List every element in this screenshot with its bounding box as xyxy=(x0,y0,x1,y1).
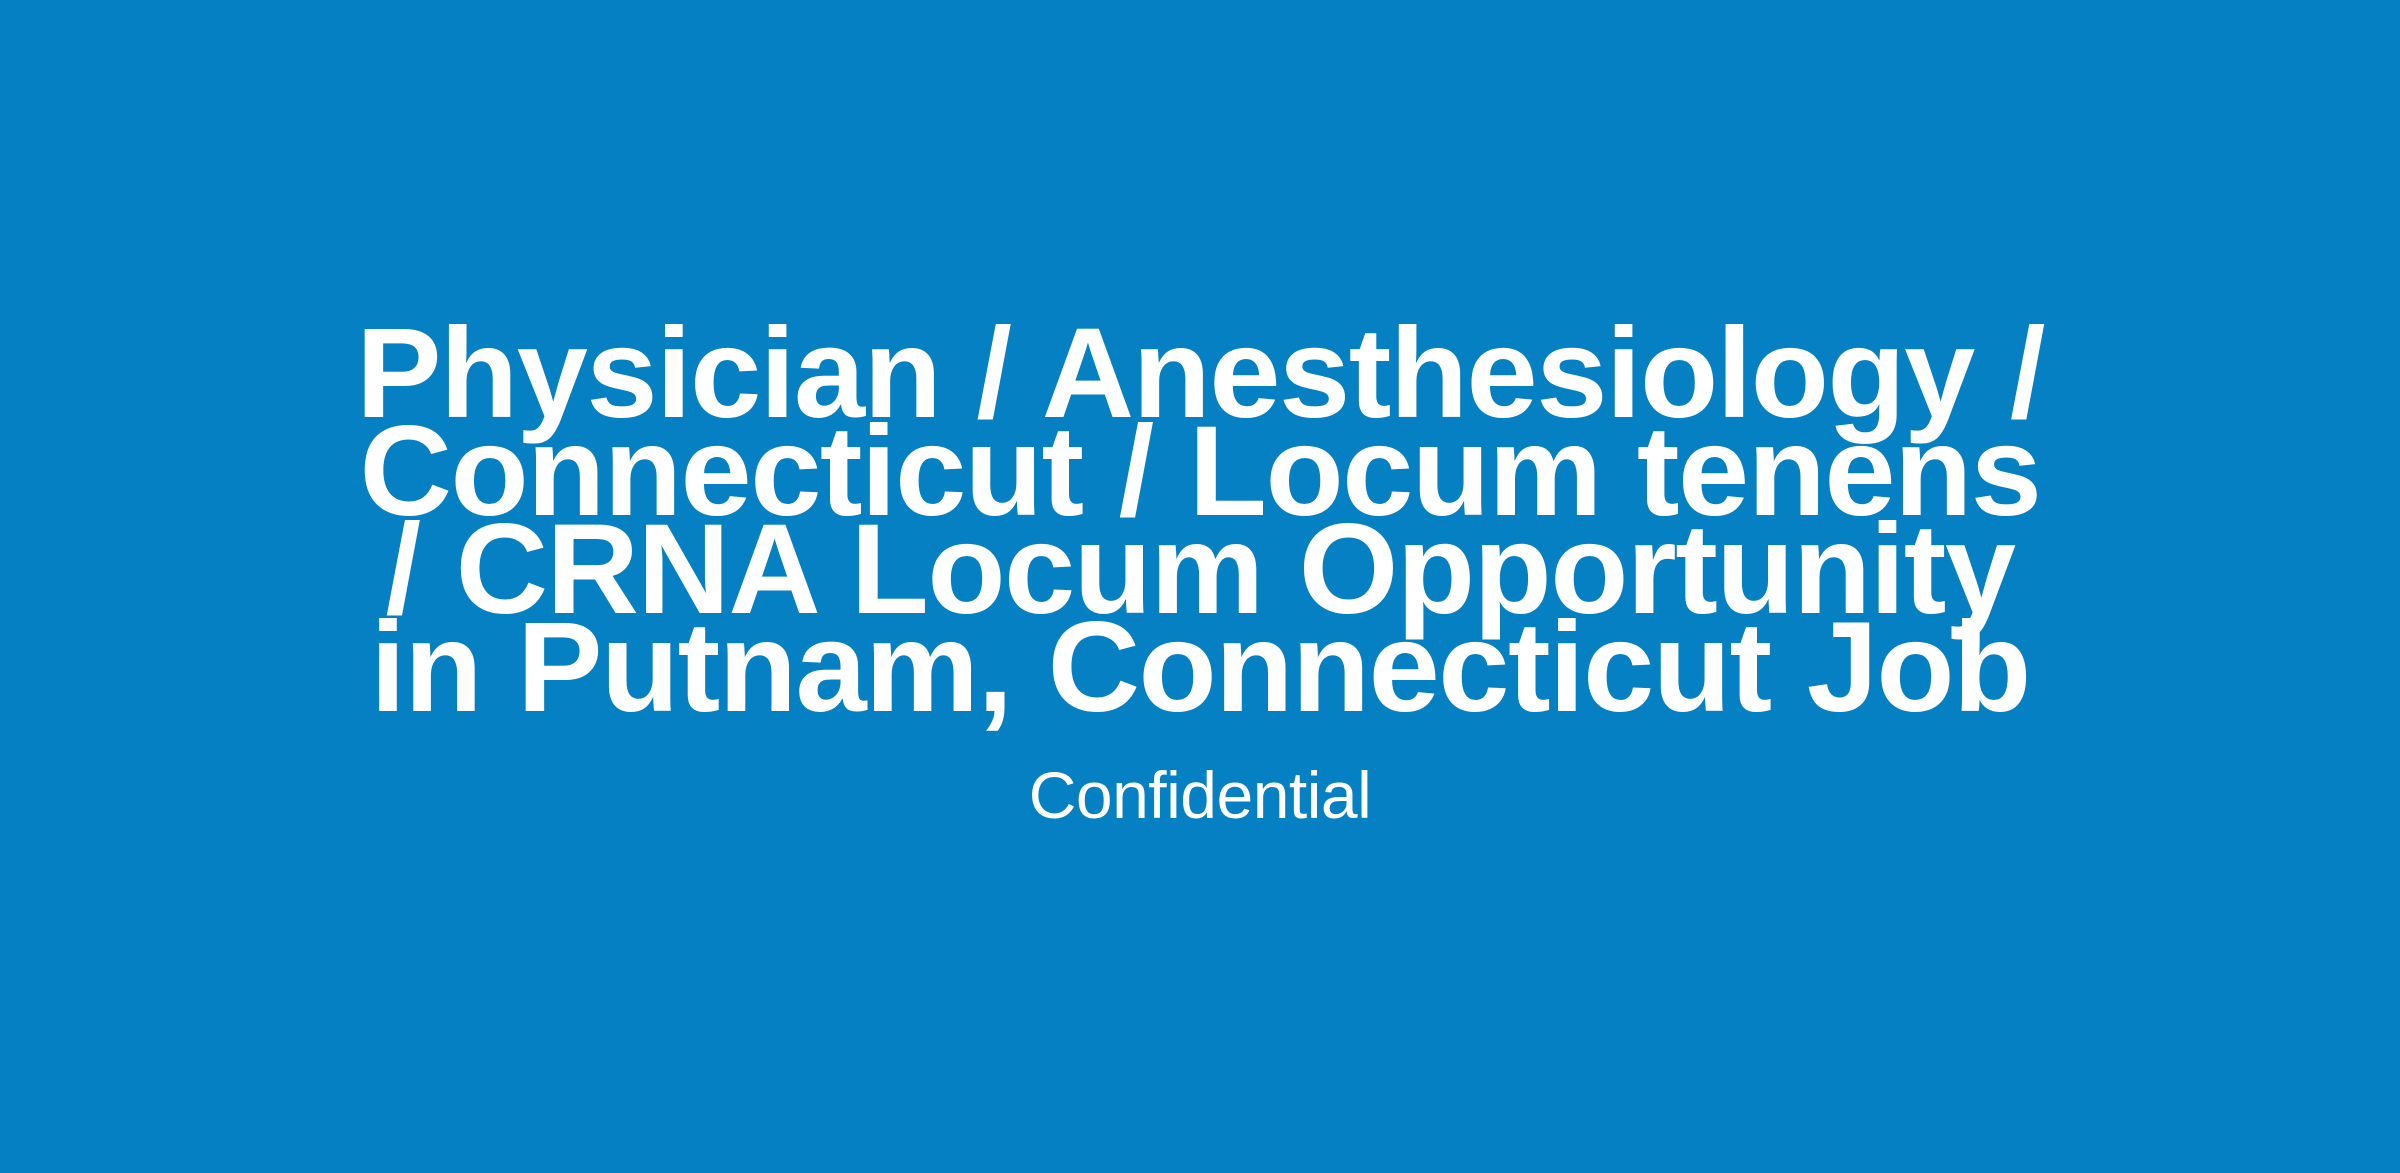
company-name: Confidential xyxy=(1029,759,1372,831)
page-title: Physician / Anesthesiology / Connecticut… xyxy=(350,325,2050,717)
job-posting-card: Physician / Anesthesiology / Connecticut… xyxy=(0,0,2400,1173)
card-content: Physician / Anesthesiology / Connecticut… xyxy=(350,325,2050,831)
